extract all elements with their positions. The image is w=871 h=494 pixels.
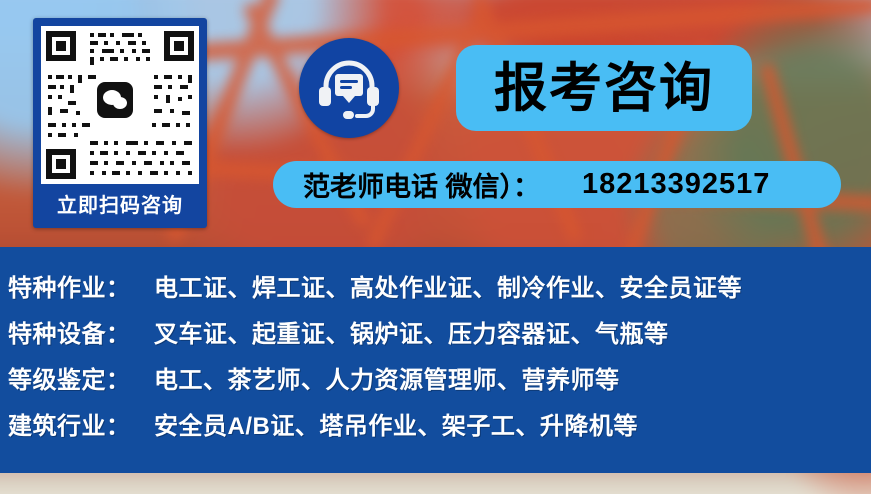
category-label: 特种设备：: [8, 314, 154, 349]
contact-phone-number[interactable]: 18213392517: [582, 168, 770, 201]
category-value: 叉车证、起重证、锅炉证、压力容器证、气瓶等: [154, 314, 669, 349]
wechat-logo-icon: [97, 82, 133, 118]
list-item: 特种设备： 叉车证、起重证、锅炉证、压力容器证、气瓶等: [8, 314, 868, 360]
category-label: 等级鉴定：: [8, 360, 154, 395]
qr-card-caption: 立即扫码咨询: [41, 189, 199, 218]
category-label: 建筑行业：: [8, 406, 154, 441]
advertisement-banner: 立即扫码咨询 报考咨询 范老师电话 微信）： 18213392517 特种作业：…: [0, 0, 871, 494]
contact-pill[interactable]: 范老师电话 微信）： 18213392517: [273, 161, 841, 208]
qr-code-image[interactable]: [41, 26, 199, 184]
qr-code-card[interactable]: 立即扫码咨询: [33, 18, 207, 228]
list-item: 等级鉴定： 电工、茶艺师、人力资源管理师、营养师等: [8, 360, 868, 406]
page-title: 报考咨询: [494, 62, 714, 115]
list-item: 特种作业： 电工证、焊工证、高处作业证、制冷作业、安全员证等: [8, 268, 868, 314]
title-pill: 报考咨询: [456, 45, 752, 131]
category-value: 电工、茶艺师、人力资源管理师、营养师等: [154, 360, 620, 395]
certificate-categories-list: 特种作业： 电工证、焊工证、高处作业证、制冷作业、安全员证等 特种设备： 叉车证…: [8, 268, 868, 452]
list-item: 建筑行业： 安全员A/B证、塔吊作业、架子工、升降机等: [8, 406, 868, 452]
category-label: 特种作业：: [8, 268, 154, 303]
category-value: 电工证、焊工证、高处作业证、制冷作业、安全员证等: [154, 268, 742, 303]
category-value: 安全员A/B证、塔吊作业、架子工、升降机等: [154, 406, 638, 441]
contact-label: 范老师电话 微信）：: [303, 165, 540, 204]
headset-support-icon[interactable]: [299, 38, 399, 138]
